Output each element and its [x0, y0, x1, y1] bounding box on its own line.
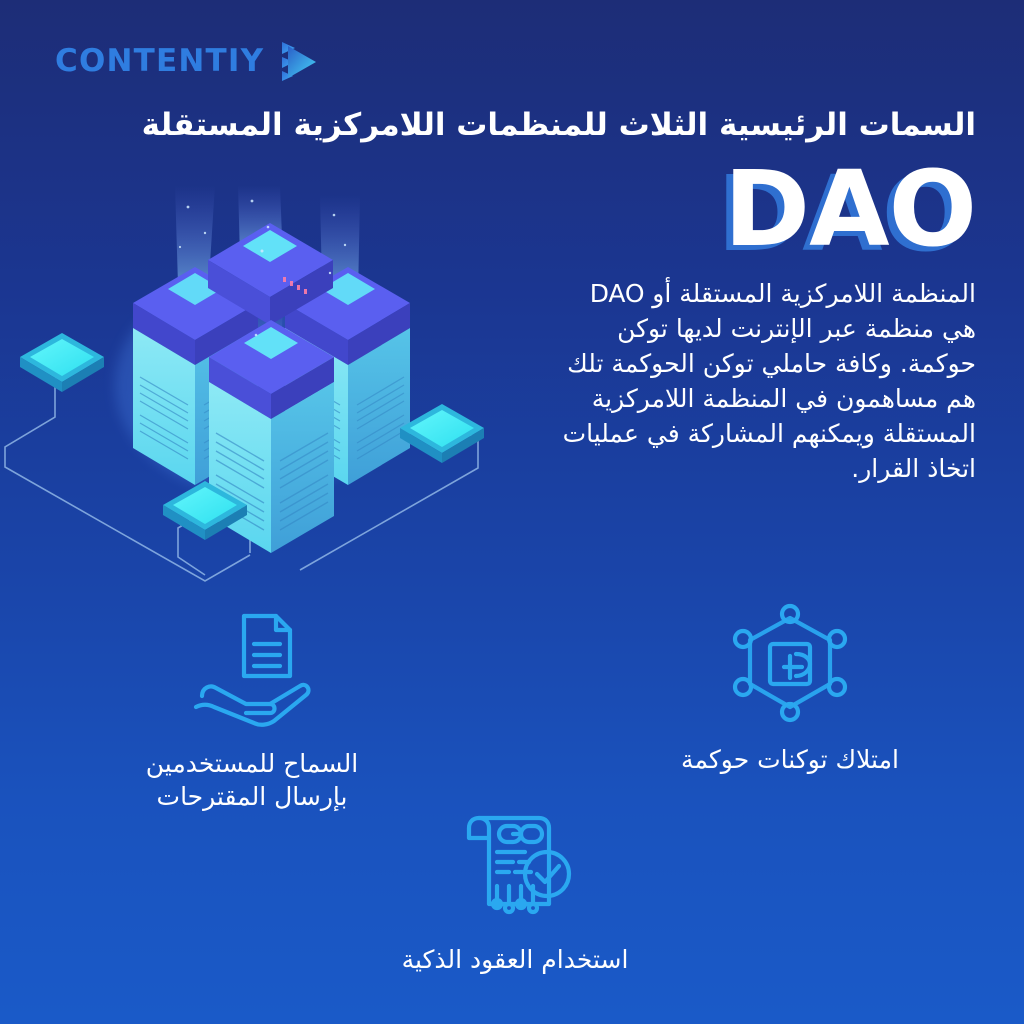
brand-logo: CONTENTIY — [55, 38, 322, 84]
brand-name: CONTENTIY — [55, 46, 264, 77]
chip-node-right — [400, 404, 484, 463]
infographic-canvas: CONTENTIY السمات الرئيسية الثلاث للمنظما… — [0, 0, 1024, 1024]
feature-tokens-label: امتلاك توكنات حوكمة — [590, 744, 990, 777]
hexagon-network-token-icon — [726, 600, 854, 728]
isometric-datacenter-illustration — [0, 185, 500, 585]
chip-node-left — [20, 333, 104, 392]
smart-contract-scroll-check-icon — [451, 800, 579, 928]
intro-paragraph: المنظمة اللامركزية المستقلة أو DAO هي من… — [556, 276, 976, 486]
feature-tokens: امتلاك توكنات حوكمة — [590, 600, 990, 777]
page-headline: السمات الرئيسية الثلاث للمنظمات اللامركز… — [96, 106, 976, 146]
feature-contracts: استخدام العقود الذكية — [300, 800, 730, 977]
hand-holding-document-icon — [188, 604, 316, 732]
play-arrow-logo-icon — [276, 38, 322, 84]
feature-contracts-label: استخدام العقود الذكية — [300, 944, 730, 977]
feature-proposals: السماح للمستخدمين بإرسال المقترحات — [52, 604, 452, 813]
